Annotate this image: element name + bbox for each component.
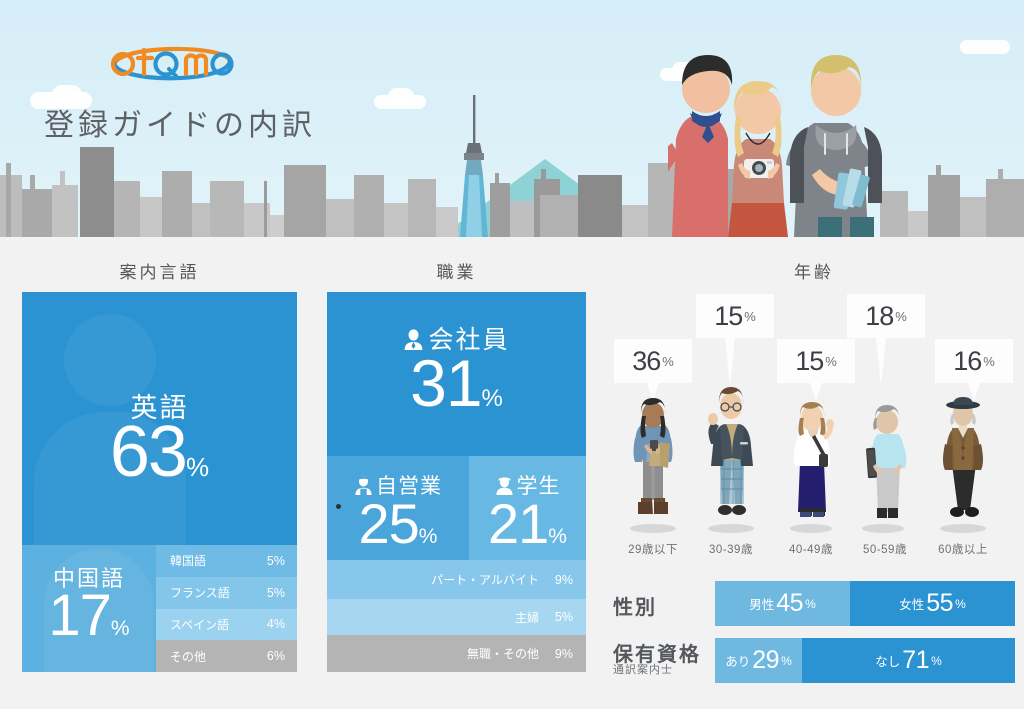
building: [436, 207, 458, 237]
occupation-primary-student[interactable]: 学生 21%: [469, 456, 586, 560]
age-category-label: 30-39歳: [690, 541, 772, 557]
cloud-icon: [388, 88, 414, 105]
building: [114, 181, 140, 237]
traveler-backpack-figure: [786, 55, 882, 237]
age-callout-value: 18: [865, 301, 893, 332]
building: [928, 175, 960, 237]
age-chart: 36 % 15 % 15 % 18 % 16 %: [604, 286, 1024, 576]
building: [354, 175, 384, 237]
language-row-label: 韓国語: [170, 552, 206, 569]
occupation-row-value: 5%: [539, 610, 573, 624]
building: [490, 183, 510, 237]
bubble-tail-icon: [876, 338, 886, 386]
occupation-row-label: 主婦: [515, 609, 539, 626]
cloud-icon: [960, 40, 1010, 54]
language-chart-panel: 英語 63% 中国語 17% 韓国語 5% フランス語 5% スペイン語 4: [22, 292, 297, 672]
traveler-camera-figure: [728, 81, 788, 237]
building: [326, 199, 354, 237]
language-primary-english[interactable]: 英語 63%: [22, 292, 297, 545]
qualification-bar: あり 29 % なし 71 %: [715, 638, 1015, 683]
list-item[interactable]: スペイン語 4%: [156, 609, 297, 641]
elderly-man-hat-icon: [936, 396, 990, 528]
bubble-tail-icon: [810, 383, 822, 401]
occupation-row-label: 無職・その他: [467, 645, 539, 662]
building: [22, 189, 52, 237]
occupation-employee-value: 31: [410, 346, 481, 420]
gender-male-unit: %: [805, 597, 816, 611]
building: [936, 165, 941, 237]
occupation-selfemployed-value: 25: [359, 492, 419, 555]
building: [986, 179, 1024, 237]
language-primary-chinese[interactable]: 中国語 17%: [22, 545, 156, 672]
age-callout-unit: %: [983, 354, 995, 369]
qualification-segment-none[interactable]: なし 71 %: [802, 638, 1015, 683]
age-callout-unit: %: [895, 309, 907, 324]
gender-segment-male[interactable]: 男性 45 %: [715, 581, 850, 626]
age-category-label: 40-49歳: [770, 541, 852, 557]
age-callout-unit: %: [825, 354, 837, 369]
language-row-label: フランス語: [170, 584, 230, 601]
occupation-student-value: 21: [488, 492, 548, 555]
building: [408, 179, 436, 237]
building: [510, 201, 534, 237]
age-callout-value: 36: [632, 346, 660, 377]
building: [6, 163, 11, 237]
age-callout-bubble[interactable]: 18 %: [847, 294, 925, 338]
language-chinese-value: 17: [48, 583, 111, 648]
qualification-none-caption: なし: [875, 651, 900, 670]
qualification-has-value: 29: [752, 646, 779, 675]
traveler-red-figure: [668, 55, 732, 237]
age-callout-unit: %: [662, 354, 674, 369]
building: [495, 173, 499, 237]
building: [80, 147, 114, 237]
occupation-employee-unit: %: [482, 385, 503, 412]
building: [622, 205, 648, 237]
occupation-row-value: 9%: [539, 647, 573, 661]
building: [60, 171, 65, 237]
building: [578, 175, 622, 237]
list-item[interactable]: 韓国語 5%: [156, 545, 297, 577]
occupation-chart-panel: 会社員 31% 自営業 25%: [327, 292, 586, 672]
gender-female-value: 55: [926, 589, 953, 618]
language-chinese-unit: %: [111, 617, 130, 640]
age-callout-value: 15: [795, 346, 823, 377]
building: [998, 169, 1003, 237]
occupation-row-value: 9%: [539, 573, 573, 587]
language-row-value: 6%: [267, 649, 285, 663]
gender-female-unit: %: [955, 597, 966, 611]
qualification-segment-has[interactable]: あり 29 %: [715, 638, 802, 683]
gender-male-caption: 男性: [749, 594, 774, 613]
senior-man-icon: [862, 404, 910, 528]
qualification-bar-sublabel: 通訳案内士: [613, 661, 673, 677]
building: [162, 171, 192, 237]
section-title-occupation: 職業: [327, 258, 586, 283]
occupation-primary-selfemployed[interactable]: 自営業 25%: [327, 456, 469, 560]
language-english-value: 63: [110, 412, 186, 492]
building: [540, 195, 580, 237]
list-item[interactable]: パート・アルバイト 9%: [327, 560, 586, 599]
section-title-age: 年齢: [604, 258, 1024, 283]
bullet-dot-icon: [336, 504, 341, 509]
building: [140, 197, 162, 237]
language-english-unit: %: [186, 452, 209, 482]
businessman-waving-icon: [702, 386, 760, 528]
building: [210, 181, 244, 237]
language-row-label: スペイン語: [170, 616, 229, 633]
list-item[interactable]: その他 6%: [156, 640, 297, 672]
list-item[interactable]: 無職・その他 9%: [327, 635, 586, 672]
age-callout-value: 16: [953, 346, 981, 377]
gender-segment-female[interactable]: 女性 55 %: [850, 581, 1015, 626]
building: [52, 185, 78, 237]
age-callout-value: 15: [714, 301, 742, 332]
occupation-selfemployed-unit: %: [419, 525, 438, 548]
building: [960, 197, 986, 237]
building: [264, 181, 267, 237]
qualification-none-value: 71: [902, 646, 929, 675]
building: [284, 165, 326, 237]
building: [384, 203, 408, 237]
qualification-has-unit: %: [781, 654, 792, 668]
gender-bar-label: 性別: [613, 591, 657, 620]
occupation-row-label: パート・アルバイト: [431, 571, 539, 588]
list-item[interactable]: 主婦 5%: [327, 599, 586, 635]
age-callout-unit: %: [744, 309, 756, 324]
age-category-label: 29歳以下: [612, 541, 694, 557]
age-callout-bubble[interactable]: 15 %: [696, 294, 774, 338]
occupation-student-unit: %: [548, 525, 567, 548]
building: [30, 175, 35, 237]
bubble-tail-icon: [725, 338, 735, 386]
qualification-has-caption: あり: [725, 651, 750, 670]
age-callout-bubble[interactable]: 36 %: [614, 339, 692, 383]
woman-bag-icon: [786, 402, 838, 528]
age-category-label: 60歳以上: [922, 541, 1004, 557]
gender-female-caption: 女性: [899, 594, 924, 613]
building: [270, 215, 284, 237]
language-secondary-rows: 韓国語 5% フランス語 5% スペイン語 4% その他 6%: [156, 545, 297, 672]
language-row-value: 5%: [267, 586, 285, 600]
age-category-label: 50-59歳: [844, 541, 926, 557]
infographic-page: 登録ガイドの内訳: [0, 0, 1024, 709]
age-callout-bubble[interactable]: 15 %: [777, 339, 855, 383]
language-row-value: 4%: [267, 617, 285, 631]
travelers-illustration: [668, 27, 928, 237]
gender-bar: 男性 45 % 女性 55 %: [715, 581, 1015, 626]
building: [192, 203, 210, 237]
qualification-none-unit: %: [931, 654, 942, 668]
language-row-value: 5%: [267, 554, 285, 568]
section-title-language: 案内言語: [22, 258, 297, 283]
occupation-primary-employee[interactable]: 会社員 31%: [327, 292, 586, 456]
gender-male-value: 45: [776, 589, 803, 618]
building: [0, 175, 22, 237]
young-woman-phone-icon: [626, 398, 680, 528]
otomo-logo: [106, 36, 238, 88]
header-banner: 登録ガイドの内訳: [0, 0, 1024, 237]
list-item[interactable]: フランス語 5%: [156, 577, 297, 609]
language-row-label: その他: [170, 648, 206, 665]
age-callout-bubble[interactable]: 16 %: [935, 339, 1013, 383]
